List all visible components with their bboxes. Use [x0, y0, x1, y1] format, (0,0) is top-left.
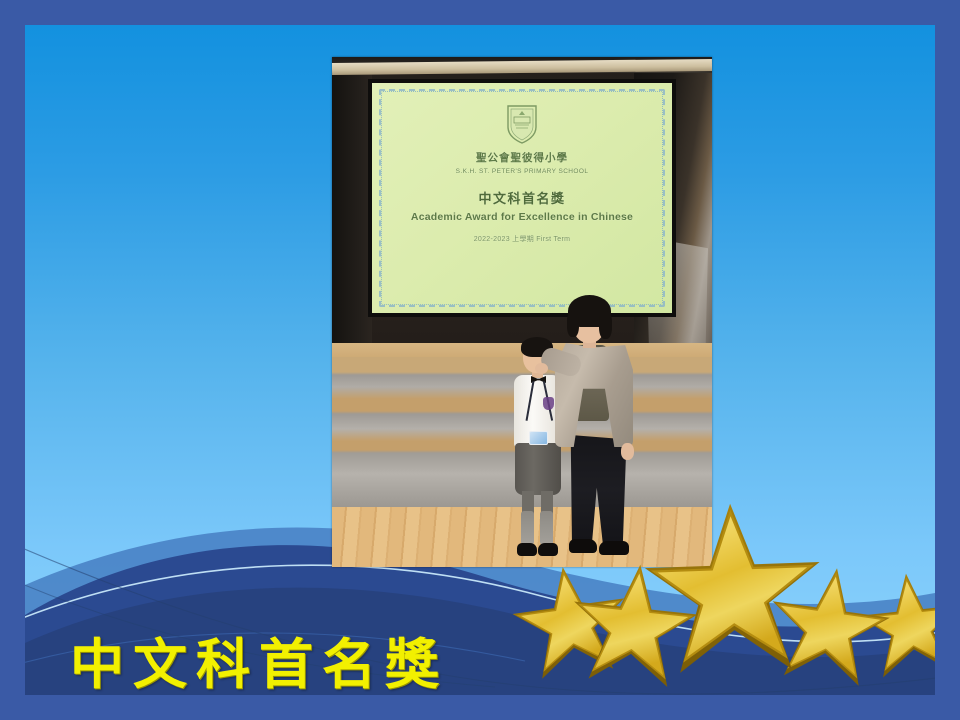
teacher-hand-right [621, 443, 634, 460]
slide-school-name-en: S.K.H. ST. PETER'S PRIMARY SCHOOL [456, 168, 589, 175]
hall-left-shadow [332, 73, 372, 353]
teacher-hair-side-right [599, 311, 612, 339]
slide-canvas: 聖公會聖彼得小學 S.K.H. ST. PETER'S PRIMARY SCHO… [0, 0, 960, 720]
teacher-figure [547, 295, 643, 567]
star-2 [566, 558, 702, 689]
student-name-badge [529, 431, 548, 445]
star-4 [763, 560, 896, 689]
teacher-shoe-left [569, 539, 597, 553]
award-title: 中文科首名獎 [70, 638, 448, 692]
slide-term-label: 2022-2023 上學期 First Term [474, 234, 571, 244]
star-5 [854, 568, 935, 679]
projected-slide: 聖公會聖彼得小學 S.K.H. ST. PETER'S PRIMARY SCHO… [372, 83, 672, 313]
teacher-hand-left [535, 363, 548, 374]
teacher-shoe-right [599, 541, 629, 555]
teacher-trousers [567, 435, 629, 545]
school-crest-icon [505, 103, 539, 145]
slide-award-name-en: Academic Award for Excellence in Chinese [411, 211, 633, 223]
star-1 [507, 559, 634, 681]
slide-school-name-cn: 聖公會聖彼得小學 [476, 150, 568, 165]
student-sock-left [521, 511, 534, 545]
student-shoe-left [517, 543, 537, 556]
slide-award-name-cn: 中文科首名獎 [478, 188, 565, 207]
award-photo: 聖公會聖彼得小學 S.K.H. ST. PETER'S PRIMARY SCHO… [332, 57, 712, 567]
teacher-hair-side-left [567, 311, 579, 337]
slide-inner-panel: 聖公會聖彼得小學 S.K.H. ST. PETER'S PRIMARY SCHO… [25, 25, 935, 695]
